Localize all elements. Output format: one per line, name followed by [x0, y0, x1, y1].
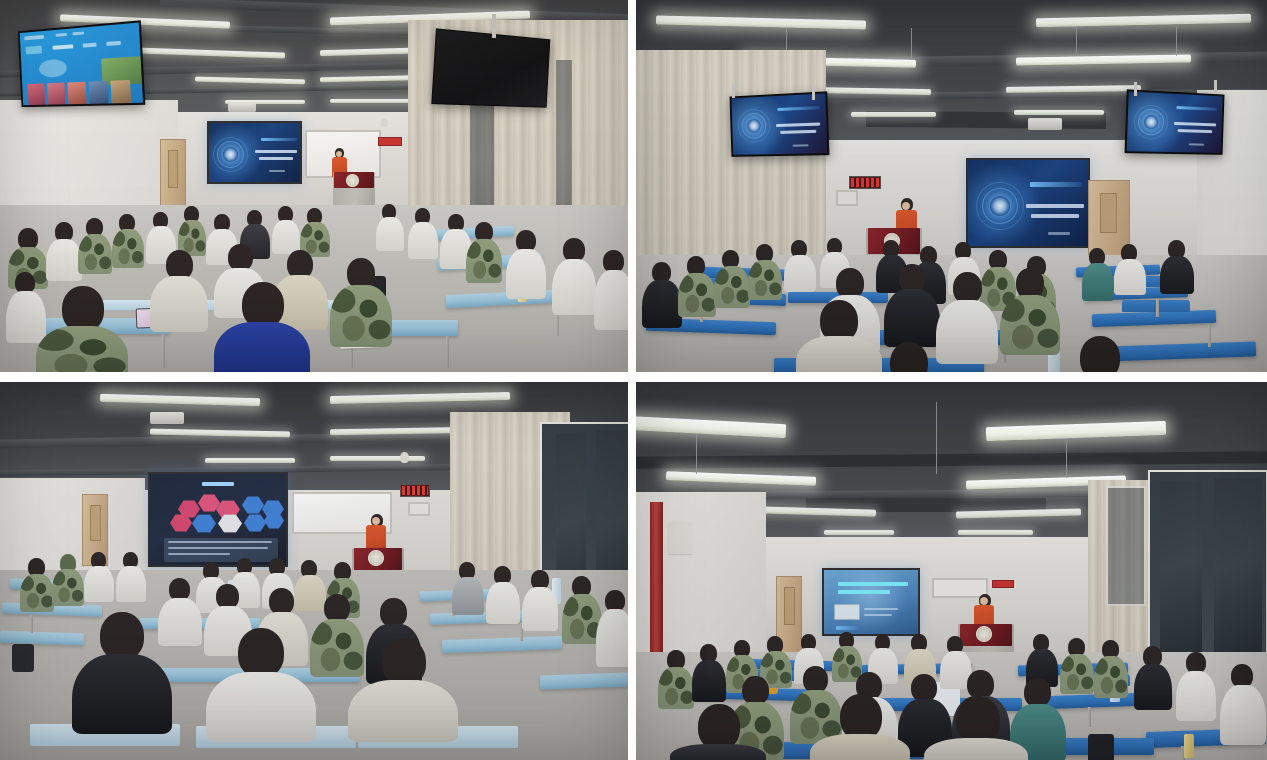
- student: [20, 558, 54, 610]
- slide-title-line-2: [1178, 129, 1213, 133]
- desk-leg: [1088, 707, 1091, 727]
- projection-screen: [207, 121, 302, 184]
- student-body: [78, 234, 112, 274]
- student-body: [348, 680, 458, 742]
- led-clock-display: [849, 176, 881, 189]
- slide-body-line: [168, 547, 268, 549]
- student-body: [52, 569, 84, 606]
- ceiling-light: [851, 112, 936, 117]
- tv-poster[interactable]: [67, 82, 86, 105]
- student: [1094, 640, 1128, 696]
- backpack: [12, 644, 34, 672]
- ceiling-tv-right[interactable]: [1125, 89, 1225, 155]
- wall-tv-streaming[interactable]: [18, 20, 145, 107]
- podium-emblem: [976, 626, 992, 642]
- slide-title: [202, 482, 234, 486]
- student: [670, 704, 766, 760]
- classroom-scene-4: [636, 382, 1267, 760]
- tv-slide-content: [1127, 91, 1223, 152]
- alarm-display: [378, 137, 402, 146]
- student-body: [884, 289, 940, 347]
- podium-emblem: [368, 550, 384, 566]
- slide-title-line-2: [838, 590, 890, 594]
- student-body: [1082, 263, 1114, 301]
- student-body: [1176, 671, 1216, 721]
- student: [1176, 652, 1216, 720]
- slide-footer-line: [792, 144, 808, 146]
- slide-title-line-1: [1174, 122, 1216, 126]
- water-bottle: [1184, 734, 1194, 758]
- student-body: [452, 577, 484, 615]
- student-head: [382, 638, 426, 686]
- desk-leg: [162, 334, 165, 368]
- slide-title-line-2: [1031, 214, 1079, 218]
- presenter-face: [902, 202, 910, 210]
- student-body: [748, 260, 782, 300]
- student-body: [1160, 256, 1194, 294]
- student-body: [84, 566, 114, 602]
- tv-mount-bracket: [492, 14, 496, 38]
- student-body: [1094, 656, 1128, 698]
- student: [692, 644, 726, 700]
- student: [868, 342, 950, 372]
- student-body: [46, 239, 82, 281]
- slide-body-line: [168, 541, 272, 543]
- ceiling-light: [330, 99, 415, 103]
- student: [748, 244, 782, 298]
- student: [486, 566, 520, 622]
- tv-mount-bracket: [812, 86, 815, 100]
- student: [1082, 248, 1114, 300]
- student-head: [742, 676, 769, 705]
- classroom-scene-3: [0, 382, 628, 760]
- photo-panel-top-left[interactable]: [0, 0, 628, 372]
- presenter-face: [372, 517, 380, 525]
- student-body: [552, 259, 596, 315]
- student-body: [810, 734, 910, 760]
- presenter-face: [980, 597, 988, 605]
- slide-footer-button: [836, 626, 860, 630]
- wall-switch-panel[interactable]: [836, 190, 858, 206]
- student: [330, 258, 392, 346]
- tv-tab[interactable]: [106, 41, 121, 46]
- student: [408, 208, 438, 258]
- student-body: [642, 280, 682, 328]
- tv-sidebar-item[interactable]: [26, 46, 42, 55]
- wall-cabinet: [668, 522, 692, 554]
- slide-emblem-ring: [976, 182, 1024, 230]
- student: [214, 282, 310, 372]
- student-head: [269, 588, 294, 615]
- student: [884, 264, 940, 346]
- student: [522, 570, 558, 630]
- student-body: [692, 660, 726, 702]
- tv-hero-art: [39, 59, 67, 78]
- student: [810, 694, 910, 760]
- student-body: [376, 217, 404, 251]
- student: [506, 230, 546, 298]
- slide-title-line-2: [780, 130, 816, 134]
- student-body: [408, 222, 438, 259]
- ceiling-tv-left[interactable]: [729, 91, 829, 157]
- student: [1160, 240, 1194, 292]
- student: [594, 250, 628, 330]
- student-head: [380, 598, 407, 627]
- mindmap-node: [242, 496, 264, 514]
- window-glass: [1214, 478, 1262, 668]
- mindmap-node: [244, 514, 266, 532]
- student: [678, 256, 716, 316]
- student-head: [1080, 336, 1120, 372]
- slide-title-line-1: [1026, 204, 1084, 208]
- slide-title-line-1: [776, 122, 820, 127]
- student: [658, 650, 694, 708]
- security-camera: [381, 118, 388, 127]
- slide-accent-bar: [261, 138, 297, 141]
- student-head: [228, 244, 253, 271]
- student: [272, 206, 300, 252]
- student-body: [36, 326, 128, 372]
- light-drop-rod: [696, 434, 697, 474]
- ceiling-light: [824, 530, 894, 535]
- student-head: [890, 342, 928, 372]
- student-body: [214, 322, 310, 372]
- slide-footer-line: [269, 170, 285, 172]
- student: [596, 590, 628, 666]
- student-body: [1134, 664, 1172, 710]
- student-body: [116, 566, 146, 602]
- student-body: [594, 270, 628, 330]
- student-body: [72, 654, 172, 734]
- slide-emblem-ring: [1133, 104, 1168, 140]
- student-body: [330, 285, 392, 347]
- student-body: [1000, 295, 1060, 355]
- photo-panel-bottom-left[interactable]: [0, 382, 628, 760]
- student: [116, 552, 146, 600]
- ceiling-light: [330, 456, 425, 461]
- ceiling-light: [958, 530, 1033, 535]
- student-body: [522, 587, 558, 631]
- backpack: [1088, 734, 1114, 760]
- student-body: [112, 229, 144, 268]
- mindmap-node: [192, 514, 216, 533]
- led-digits: [402, 486, 428, 495]
- student-body: [596, 609, 628, 667]
- student-body: [466, 239, 502, 283]
- classroom-scene-1: [0, 0, 628, 372]
- student: [1000, 268, 1060, 354]
- light-drop-rod: [911, 28, 912, 58]
- ceiling-light: [1014, 110, 1104, 115]
- student: [150, 250, 208, 330]
- door-window: [784, 587, 795, 625]
- tv-poster[interactable]: [110, 80, 131, 103]
- student: [300, 208, 330, 256]
- classroom-scene-2: [636, 0, 1267, 372]
- student: [36, 286, 128, 372]
- desk-leg: [446, 336, 449, 368]
- ceiling-light: [205, 458, 295, 463]
- student: [714, 250, 750, 306]
- student: [784, 240, 816, 290]
- student: [924, 696, 1028, 760]
- student: [206, 628, 316, 738]
- led-clock-display: [400, 484, 430, 497]
- tv-tab[interactable]: [53, 44, 74, 49]
- student: [1114, 244, 1146, 294]
- student-body: [678, 273, 716, 317]
- light-drop-rod: [1076, 26, 1077, 56]
- slide-title-line-1: [838, 582, 908, 586]
- wall-switch-panel[interactable]: [408, 502, 430, 516]
- slide-accent-bar: [777, 106, 819, 111]
- student: [1060, 336, 1140, 372]
- slide-thumbnail: [834, 604, 860, 620]
- student-body: [714, 266, 750, 308]
- slide-title-line-1: [255, 150, 297, 153]
- slide-emblem-ring: [213, 137, 248, 172]
- security-camera: [400, 452, 409, 463]
- student: [178, 206, 206, 256]
- tv-nav-item[interactable]: [56, 33, 67, 37]
- alarm-display: [992, 580, 1014, 588]
- student: [78, 218, 112, 274]
- ceiling-tv-off[interactable]: [431, 28, 550, 107]
- student-head: [324, 594, 350, 622]
- student-head: [238, 628, 284, 678]
- slide-footer-line: [1048, 232, 1070, 235]
- projection-screen: [822, 568, 920, 636]
- slide-body-line: [864, 608, 898, 610]
- student-body: [150, 276, 208, 332]
- podium-emblem: [346, 174, 359, 187]
- tv-poster[interactable]: [89, 81, 109, 104]
- student-body: [206, 672, 316, 742]
- student: [52, 554, 84, 604]
- student: [376, 204, 404, 250]
- classroom-door[interactable]: [160, 139, 186, 214]
- led-digits: [851, 178, 879, 187]
- student-head: [100, 612, 144, 660]
- student-body: [272, 220, 300, 254]
- door-window: [168, 150, 178, 188]
- student-body: [1220, 685, 1266, 745]
- slide-footer-line: [1189, 143, 1204, 145]
- light-drop-rod: [1176, 26, 1177, 56]
- student-head: [967, 670, 994, 699]
- photo-collage: [0, 0, 1267, 760]
- slide-body-line: [168, 553, 230, 555]
- door-window: [90, 505, 101, 541]
- student-body: [670, 744, 766, 760]
- slide-body-line: [864, 614, 892, 616]
- window: [1106, 486, 1146, 606]
- student: [112, 214, 144, 268]
- student: [72, 612, 172, 732]
- tv-mount-bracket: [1214, 80, 1217, 94]
- slide-title-line-2: [259, 157, 293, 160]
- tv-nav-item[interactable]: [72, 31, 84, 35]
- tv-mount-bracket: [732, 84, 735, 98]
- student: [552, 238, 596, 314]
- student: [84, 552, 114, 600]
- projector: [1028, 118, 1062, 130]
- student: [466, 222, 502, 282]
- desk-leg: [1208, 325, 1211, 347]
- desk-leg: [1156, 299, 1159, 317]
- photo-panel-top-right[interactable]: [636, 0, 1267, 372]
- slide-accent-bar: [1176, 106, 1216, 111]
- slide-emblem-ring: [737, 108, 770, 143]
- tv-mount-bracket: [1134, 82, 1137, 96]
- student-head: [1024, 678, 1051, 707]
- projection-screen: [966, 158, 1090, 248]
- door-window: [1100, 193, 1117, 233]
- student-body: [20, 574, 54, 612]
- tv-poster[interactable]: [27, 83, 45, 105]
- student-body: [506, 249, 546, 299]
- student: [1134, 646, 1172, 708]
- student: [642, 262, 682, 326]
- slide-accent-bar: [1030, 182, 1082, 187]
- tv-slide-content: [731, 93, 827, 154]
- student-body: [486, 582, 520, 624]
- student-head: [803, 666, 828, 693]
- desk-leg: [30, 615, 33, 633]
- student: [452, 562, 484, 614]
- tv-screen-ui: [20, 23, 143, 106]
- projector: [228, 103, 256, 112]
- student-body: [784, 255, 816, 292]
- student: [46, 222, 82, 280]
- tv-logo: [24, 35, 44, 40]
- projector: [150, 412, 184, 424]
- student-body: [1114, 259, 1146, 295]
- student-body: [924, 738, 1028, 760]
- student-body: [658, 667, 694, 709]
- light-drop-rod: [936, 402, 937, 474]
- photo-panel-bottom-right[interactable]: [636, 382, 1267, 760]
- tv-poster[interactable]: [47, 83, 66, 105]
- light-drop-rod: [1066, 438, 1067, 478]
- student: [1220, 664, 1266, 744]
- window-glass: [1160, 482, 1202, 667]
- student: [348, 638, 458, 738]
- student-head: [956, 696, 1000, 744]
- projection-screen: [148, 472, 288, 567]
- tv-tab[interactable]: [83, 43, 97, 48]
